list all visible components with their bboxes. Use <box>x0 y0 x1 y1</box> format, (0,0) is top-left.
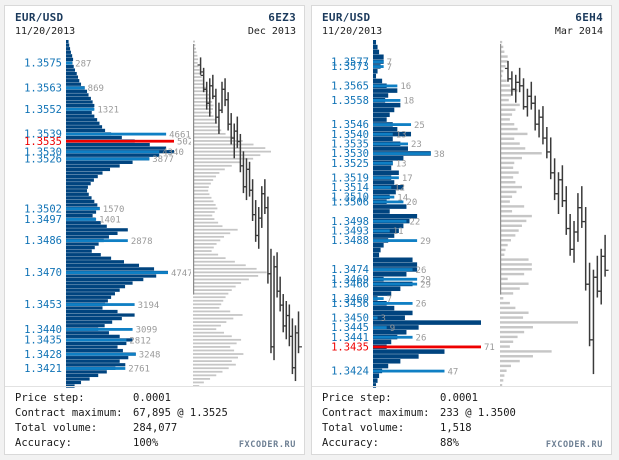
ohlc-volume-line <box>193 144 254 146</box>
profile-bar <box>66 321 112 324</box>
ohlc-bar <box>264 179 266 214</box>
profile-bar <box>373 127 397 132</box>
ohlc-bar <box>267 197 269 284</box>
ohlc-open-tick <box>286 315 289 316</box>
ohlc-volume-line <box>193 137 233 139</box>
ohlc-open-tick <box>243 186 246 187</box>
ohlc-open-tick <box>219 110 222 111</box>
profile-highlight-line <box>373 65 384 68</box>
price-level-label: 1.3506 <box>331 197 369 209</box>
ohlc-open-tick <box>222 89 225 90</box>
ohlc-bar <box>221 82 223 113</box>
ohlc-bar <box>227 92 229 130</box>
profile-bar <box>66 370 107 373</box>
profile-bar <box>66 97 91 100</box>
profile-bar <box>66 264 139 267</box>
ohlc-open-tick <box>575 231 578 232</box>
ohlc-volume-line <box>193 325 221 327</box>
price-level-label: 1.3456 <box>331 298 369 310</box>
profile-highlight-line <box>66 303 135 306</box>
ohlc-volume-line <box>500 229 519 231</box>
profile-bar <box>373 204 406 209</box>
ohlc-bar <box>531 82 533 110</box>
profile-bar <box>66 104 94 107</box>
ohlc-volume-line <box>193 218 214 220</box>
profile-bar <box>66 342 126 345</box>
ohlc-volume-line <box>193 240 220 242</box>
ohlc-close-tick <box>299 346 302 347</box>
ohlc-volume-line <box>500 196 512 198</box>
profile-bar <box>66 51 71 54</box>
profile-bar <box>66 246 95 249</box>
profile-highlight-line <box>66 87 85 90</box>
profile-volume-value: 29 <box>420 237 431 247</box>
profile-highlight-line <box>373 196 394 199</box>
ohlc-open-tick <box>237 141 240 142</box>
ohlc-volume-line <box>500 162 514 164</box>
profile-bar <box>66 93 89 96</box>
footer-row: Price step: 0.0001 <box>15 391 296 406</box>
ohlc-open-tick <box>289 336 292 337</box>
ohlc-open-tick <box>259 217 262 218</box>
ohlc-bar <box>261 186 263 228</box>
ohlc-open-tick <box>274 266 277 267</box>
ohlc-volume-line <box>500 147 525 149</box>
ohlc-volume-line <box>193 122 217 124</box>
panel-header-left: EUR/USD 6EZ3 11/20/2013 Dec 2013 <box>5 6 304 40</box>
footer-value: 233 @ 1.3500 <box>440 406 603 421</box>
ohlc-volume-line <box>193 200 213 202</box>
profile-bar <box>66 289 120 292</box>
profile-bar <box>66 154 159 157</box>
ohlc-bar <box>511 71 513 95</box>
ohlc-bar <box>240 134 242 172</box>
profile-highlight-line <box>373 220 406 223</box>
ohlc-volume-line <box>193 186 209 188</box>
ohlc-bar <box>237 117 239 148</box>
ohlc-open-tick <box>517 82 520 83</box>
ohlc-chart-left <box>191 40 304 388</box>
ohlc-open-tick <box>250 190 253 191</box>
ohlc-volume-line <box>500 157 522 159</box>
ohlc-volume-line <box>500 181 515 183</box>
ohlc-bar <box>212 75 214 99</box>
ohlc-volume-line <box>193 339 241 341</box>
profile-bar <box>66 274 156 277</box>
ohlc-open-tick <box>225 99 228 100</box>
profile-bar <box>66 299 108 302</box>
ohlc-volume-line <box>500 331 524 333</box>
ohlc-open-tick <box>240 165 243 166</box>
profile-highlight-line <box>66 150 159 153</box>
ohlc-volume-line <box>500 118 510 120</box>
current-price-line <box>66 140 174 143</box>
price-level-label: 1.3435 <box>331 342 369 354</box>
price-level-label: 1.3563 <box>24 83 62 95</box>
profile-volume-value: 3877 <box>152 155 174 165</box>
ohlc-bar <box>246 158 248 200</box>
profile-bar <box>66 331 109 334</box>
volume-profile-svg: 1.35752871.35638691.355213211.353946611.… <box>5 40 191 388</box>
profile-bar <box>373 311 413 316</box>
ohlc-volume-line <box>500 374 504 376</box>
ohlc-volume-line <box>193 364 236 366</box>
volume-profile-left: 1.35752871.35638691.355213211.353946611.… <box>5 40 191 388</box>
profile-highlight-line <box>66 339 126 342</box>
ohlc-open-tick <box>198 64 201 65</box>
profile-highlight-line <box>373 297 384 300</box>
profile-bar <box>66 374 98 377</box>
profile-bar <box>66 58 73 61</box>
footer-value: 284,077 <box>133 421 296 436</box>
price-level-label: 1.3526 <box>24 154 62 166</box>
ohlc-bar <box>289 304 291 346</box>
ohlc-volume-line <box>193 250 212 252</box>
profile-bar <box>66 310 118 313</box>
profile-highlight-line <box>66 353 136 356</box>
profile-highlight-line <box>66 207 100 210</box>
profile-bar <box>66 278 143 281</box>
ohlc-volume-line <box>500 41 502 43</box>
ohlc-volume-line <box>500 109 515 111</box>
ohlc-open-tick <box>256 235 259 236</box>
ohlc-open-tick <box>268 273 271 274</box>
ohlc-bar <box>577 193 579 242</box>
ohlc-volume-line <box>500 345 510 347</box>
profile-volume-value: 47 <box>447 367 458 377</box>
profile-bar <box>66 324 105 327</box>
profile-bar <box>373 306 394 311</box>
ohlc-volume-line <box>500 321 578 323</box>
profile-highlight-line <box>66 328 133 331</box>
ohlc-volume-line <box>500 350 552 352</box>
profile-volume-value: 12 <box>394 184 405 194</box>
profile-volume-value: 13 <box>396 159 407 169</box>
price-level-label: 1.3575 <box>24 58 62 70</box>
ohlc-volume-line <box>193 215 212 217</box>
profile-bar <box>66 313 135 316</box>
price-level-label: 1.3558 <box>331 95 369 107</box>
ohlc-volume-line <box>500 268 532 270</box>
profile-highlight-line <box>373 123 411 126</box>
ohlc-volume-line <box>500 171 519 173</box>
ohlc-bar <box>292 318 294 374</box>
ohlc-volume-line <box>193 112 212 114</box>
ohlc-bar <box>546 127 548 158</box>
profile-bar <box>373 55 384 60</box>
price-level-label: 1.3486 <box>24 235 62 247</box>
ohlc-bar <box>258 207 260 249</box>
ohlc-bar <box>566 186 568 235</box>
price-level-label: 1.3421 <box>24 363 62 375</box>
ohlc-volume-line <box>193 97 211 99</box>
ohlc-volume-line <box>193 232 230 234</box>
symbol-label: EUR/USD <box>322 11 370 25</box>
profile-highlight-line <box>373 143 408 146</box>
profile-highlight-line <box>66 271 168 274</box>
profile-bar <box>373 316 405 321</box>
ohlc-open-tick <box>587 284 590 285</box>
symbol-label: EUR/USD <box>15 11 63 25</box>
expiry-label: Mar 2014 <box>555 25 603 39</box>
ohlc-chart-svg <box>191 40 305 388</box>
profile-bar <box>373 243 384 248</box>
panel-footer-left: Price step: 0.0001 Contract maximum: 67,… <box>5 386 304 454</box>
profile-bar <box>66 54 72 57</box>
ohlc-open-tick <box>262 193 265 194</box>
profile-bar <box>373 93 388 98</box>
ohlc-volume-line <box>193 83 204 85</box>
ohlc-volume-line <box>193 296 226 298</box>
profile-volume-value: 869 <box>88 84 104 94</box>
ohlc-volume-line <box>193 190 208 192</box>
ohlc-open-tick <box>563 200 566 201</box>
ohlc-volume-line <box>500 104 520 106</box>
ohlc-volume-line <box>500 128 518 130</box>
ohlc-volume-line <box>500 326 533 328</box>
profile-bar <box>66 253 101 256</box>
ohlc-open-tick <box>280 304 283 305</box>
price-level-label: 1.3488 <box>331 235 369 247</box>
profile-bar <box>66 115 94 118</box>
profile-highlight-line <box>66 218 96 221</box>
ohlc-bar <box>589 263 591 347</box>
ohlc-bar <box>519 68 521 92</box>
price-level-label: 1.3453 <box>24 299 62 311</box>
profile-bar <box>66 90 87 93</box>
profile-bar <box>373 248 381 253</box>
ohlc-bar <box>203 68 205 92</box>
footer-value: 0.0001 <box>440 391 603 406</box>
ohlc-volume-line <box>193 286 236 288</box>
ohlc-volume-line <box>193 307 219 309</box>
ohlc-volume-line <box>500 239 511 241</box>
footer-row: Contract maximum: 67,895 @ 1.3525 <box>15 406 296 421</box>
ohlc-bar <box>234 124 236 159</box>
ohlc-volume-line <box>193 261 235 263</box>
ohlc-volume-line <box>193 289 232 291</box>
ohlc-open-tick <box>520 85 523 86</box>
profile-bar <box>373 253 379 258</box>
profile-bar <box>373 113 390 118</box>
panel-header-right: EUR/USD 6EH4 11/20/2013 Mar 2014 <box>312 6 611 40</box>
ohlc-volume-line <box>193 318 233 320</box>
ohlc-bar <box>206 82 208 110</box>
profile-bar <box>66 65 74 68</box>
profile-volume-value: 5028 <box>177 137 191 147</box>
footer-label: Contract maximum: <box>15 406 133 421</box>
ohlc-volume-axis <box>193 44 194 295</box>
ohlc-open-tick <box>204 89 207 90</box>
profile-volume-value: 7 <box>387 63 392 73</box>
price-level-label: 1.3424 <box>331 366 369 378</box>
profile-bar <box>373 364 388 369</box>
profile-bar <box>373 378 378 383</box>
profile-bar <box>66 292 115 295</box>
profile-highlight-line <box>373 268 413 271</box>
panel-body-right: 1.357771.357371.3565161.3558181.3546251.… <box>312 40 611 388</box>
ohlc-volume-line <box>193 382 204 384</box>
ohlc-volume-line <box>500 365 511 367</box>
ohlc-volume-line <box>193 151 271 153</box>
profile-bar <box>66 200 94 203</box>
profile-bar <box>66 296 111 299</box>
ohlc-volume-line <box>193 282 241 284</box>
ohlc-open-tick <box>524 106 527 107</box>
profile-highlight-line <box>373 239 417 242</box>
profile-bar <box>373 258 413 263</box>
ohlc-bar <box>523 78 525 109</box>
ohlc-volume-line <box>500 94 511 96</box>
ohlc-open-tick <box>536 124 539 125</box>
footer-value: 0.0001 <box>133 391 296 406</box>
profile-volume-value: 3 <box>381 314 386 324</box>
ohlc-volume-line <box>193 161 241 163</box>
profile-volume-value: 1401 <box>99 216 121 226</box>
profile-volume-value: 3099 <box>136 326 158 336</box>
ohlc-volume-line <box>193 279 249 281</box>
profile-bar <box>66 203 97 206</box>
profile-bar <box>66 68 75 71</box>
profile-bar <box>373 349 444 354</box>
profile-volume-value: 2878 <box>131 237 153 247</box>
ohlc-open-tick <box>598 291 601 292</box>
profile-highlight-line <box>66 133 166 136</box>
ohlc-bar <box>249 162 251 197</box>
profile-bar <box>66 178 94 181</box>
ohlc-volume-line <box>193 311 230 313</box>
profile-bar <box>373 180 394 185</box>
ohlc-volume-line <box>500 176 513 178</box>
price-level-label: 1.3497 <box>24 214 62 226</box>
panel-footer-right: Price step: 0.0001 Contract maximum: 233… <box>312 386 611 454</box>
ohlc-open-tick <box>559 179 562 180</box>
profile-highlight-line <box>373 152 431 155</box>
profile-volume-value: 16 <box>400 82 411 92</box>
profile-bar <box>66 257 111 260</box>
ohlc-volume-line <box>193 229 238 231</box>
profile-highlight-line <box>373 133 393 136</box>
ohlc-bar <box>218 103 220 134</box>
panel-right: EUR/USD 6EH4 11/20/2013 Mar 2014 1.35777… <box>311 5 612 455</box>
ohlc-open-tick <box>201 75 204 76</box>
ohlc-volume-axis <box>500 44 501 295</box>
profile-highlight-line <box>66 158 149 161</box>
ohlc-volume-line <box>500 258 529 260</box>
ohlc-bar <box>600 249 602 305</box>
profile-bar <box>66 136 122 139</box>
ohlc-open-tick <box>247 169 250 170</box>
profile-highlight-line <box>373 317 378 320</box>
profile-volume-value: 1321 <box>97 105 119 115</box>
ohlc-volume-line <box>193 172 219 174</box>
ohlc-volume-line <box>193 236 224 238</box>
ohlc-volume-line <box>193 154 260 156</box>
profile-bar <box>373 272 406 277</box>
ohlc-volume-line <box>193 350 234 352</box>
profile-volume-value: 23 <box>411 140 422 150</box>
ohlc-volume-line <box>193 147 265 149</box>
footer-label: Accuracy: <box>322 436 440 451</box>
ohlc-volume-line <box>500 312 529 314</box>
footer-value: 67,895 @ 1.3525 <box>133 406 296 421</box>
volume-profile-svg: 1.357771.357371.3565161.3558181.3546251.… <box>312 40 498 388</box>
ohlc-open-tick <box>265 207 268 208</box>
session-date-label: 11/20/2013 <box>15 25 75 39</box>
profile-bar <box>66 196 92 199</box>
ohlc-volume-line <box>193 374 216 376</box>
profile-bar <box>373 359 400 364</box>
profile-volume-value: 2761 <box>128 365 150 375</box>
profile-bar <box>66 317 122 320</box>
ohlc-bar <box>209 78 211 116</box>
profile-highlight-line <box>373 230 390 233</box>
ohlc-open-tick <box>210 85 213 86</box>
profile-volume-value: 20 <box>406 198 417 208</box>
ohlc-open-tick <box>207 103 210 104</box>
profile-volume-value: 26 <box>416 266 427 276</box>
profile-bar <box>373 374 379 379</box>
ohlc-volume-line <box>193 342 237 344</box>
ohlc-open-tick <box>555 193 558 194</box>
profile-bar <box>66 260 124 263</box>
ohlc-open-tick <box>544 137 547 138</box>
ohlc-volume-line <box>500 287 520 289</box>
profile-volume-value: 38 <box>434 150 445 160</box>
profile-bar <box>66 118 97 121</box>
footer-label: Accuracy: <box>15 436 133 451</box>
profile-bar <box>66 356 128 359</box>
profile-bar <box>66 360 120 363</box>
ohlc-volume-line <box>193 371 222 373</box>
profile-bar <box>66 72 77 75</box>
ohlc-volume-line <box>193 293 228 295</box>
profile-highlight-line <box>66 367 125 370</box>
ohlc-close-tick <box>606 270 609 271</box>
ohlc-bar <box>215 89 217 124</box>
ohlc-volume-line <box>500 210 512 212</box>
profile-bar <box>373 166 391 171</box>
profile-volume-value: 4747 <box>171 269 191 279</box>
profile-volume-value: 29 <box>420 280 431 290</box>
profile-volume-value: 18 <box>403 97 414 107</box>
brand-watermark: FXCODER.RU <box>546 440 603 450</box>
ohlc-volume-line <box>193 254 218 256</box>
ohlc-volume-line <box>500 307 515 309</box>
profile-volume-value: 25 <box>414 121 425 131</box>
footer-row: Contract maximum: 233 @ 1.3500 <box>322 406 603 421</box>
profile-bar <box>66 267 154 270</box>
ohlc-open-tick <box>509 78 512 79</box>
ohlc-open-tick <box>231 137 234 138</box>
ohlc-bar <box>286 301 288 339</box>
ohlc-volume-line <box>500 263 532 265</box>
profile-volume-value: 71 <box>484 343 495 353</box>
ohlc-bar <box>295 325 297 381</box>
ohlc-bar <box>279 277 281 312</box>
ohlc-open-tick <box>552 172 555 173</box>
ohlc-bar <box>527 89 529 117</box>
profile-highlight-line <box>373 85 397 88</box>
profile-bar <box>66 143 150 146</box>
ohlc-volume-line <box>193 211 215 213</box>
ohlc-volume-line <box>193 300 223 302</box>
ohlc-bar <box>573 221 575 263</box>
profile-bar <box>66 235 109 238</box>
profile-bar <box>373 287 400 292</box>
ohlc-volume-line <box>193 176 216 178</box>
price-level-label: 1.3552 <box>24 104 62 116</box>
